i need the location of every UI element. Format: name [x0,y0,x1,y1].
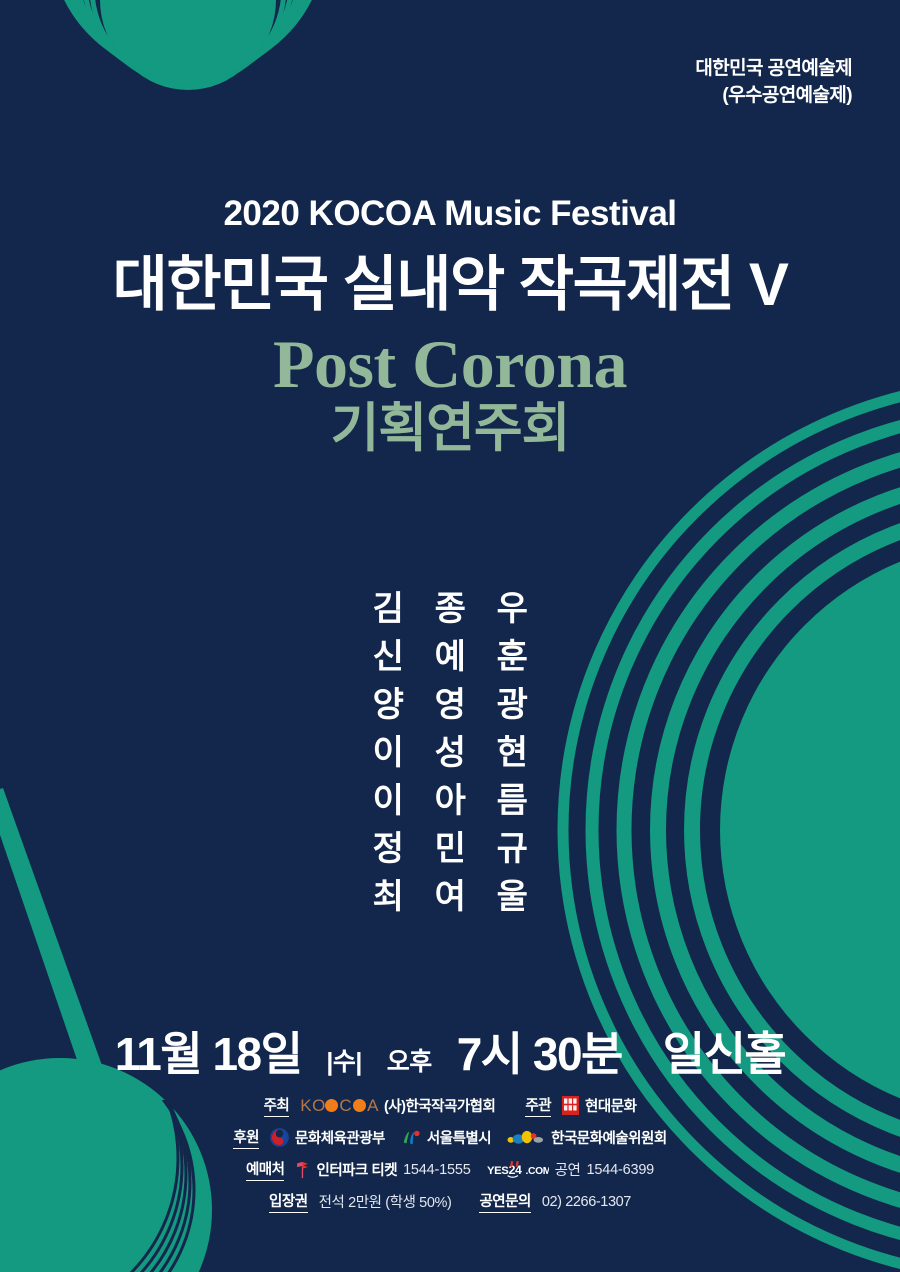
composer-surname: 신 [357,640,419,674]
composer-surname: 이 [357,784,419,818]
ticket-vendor-interpark[interactable]: 인터파크 티켓 1544-1555 [295,1159,470,1180]
seoul-logo-icon [401,1128,421,1148]
sponsor-label: 후원 [233,1126,259,1149]
composer-row: 김 종 우 [357,592,543,626]
schedule-ampm: 오후 [387,1048,432,1076]
composer-row: 양 영 광 [357,688,543,722]
schedule-venue: 일신홀 [663,1028,785,1080]
festival-eyebrow: 2020 KOCOA Music Festival [0,196,900,231]
svg-text:YES: YES [487,1165,509,1177]
credit-row-admission: 입장권 전석 2만원 (학생 50%) 공연문의 02) 2266-1307 [269,1190,631,1213]
credit-row-ticketing: 예매처 인터파크 티켓 1544-1555 YES 2 [246,1158,654,1181]
kocoa-dot-icon [325,1099,338,1112]
top-left-disc [100,0,276,88]
composer-surname: 정 [357,832,419,866]
taegeuk-icon [270,1128,289,1147]
subtitle-latin: Post Corona [0,330,900,399]
composer-mid: 아 [419,784,481,818]
page-title: 대한민국 실내악 작곡제전 V [0,253,900,316]
sponsor-entry-arko: 한국문화예술위원회 [507,1127,667,1148]
organizer-label: 주관 [525,1094,551,1117]
hyundai-culture-seal-icon [562,1096,579,1115]
kocoa-dot-icon [353,1099,366,1112]
composer-last: 규 [481,832,543,866]
composer-row: 정 민 규 [357,832,543,866]
composer-surname: 이 [357,736,419,770]
composer-mid: 여 [419,880,481,914]
admission-price: 전석 2만원 (학생 50%) [319,1191,452,1212]
concert-poster: 대한민국 공연예술제 (우수공연예술제) 2020 KOCOA Music Fe… [0,0,900,1272]
composer-surname: 양 [357,688,419,722]
interpark-pin-icon [295,1161,310,1179]
composer-mid: 종 [419,592,481,626]
ticket-vendor-phone: 1544-6399 [587,1162,655,1178]
ticketing-label: 예매처 [246,1158,285,1181]
kocoa-logo: KOCA [300,1096,379,1116]
composer-last: 광 [481,688,543,722]
svg-text:.COM: .COM [525,1166,548,1177]
ticket-vendor-phone: 1544-1555 [403,1162,471,1178]
credit-row-host: 주최 KOCA (사)한국작곡가협회 주관 [264,1094,637,1117]
inquiry-label: 공연문의 [479,1190,530,1213]
sponsor-entry-seoul: 서울특별시 [401,1127,491,1148]
composer-surname: 김 [357,592,419,626]
sponsor-org-1: 서울특별시 [427,1127,491,1148]
schedule-weekday: |수| [326,1048,362,1076]
sponsor-org-0: 문화체육관광부 [295,1127,385,1148]
composer-mid: 예 [419,640,481,674]
festival-badge: 대한민국 공연예술제 (우수공연예술제) [695,56,852,110]
composer-row: 신 예 훈 [357,640,543,674]
composer-mid: 영 [419,688,481,722]
composer-list: 김 종 우 신 예 훈 양 영 광 이 성 현 이 아 름 정 민 규 [0,592,900,928]
composer-row: 이 아 름 [357,784,543,818]
ticket-vendor-yes24[interactable]: YES 24 .COM 공연 1544-6399 [487,1159,654,1180]
composer-last: 름 [481,784,543,818]
composer-last: 현 [481,736,543,770]
credit-row-sponsor: 후원 문화체육관광부 [233,1126,666,1149]
organizer-entry: 현대문화 [562,1095,636,1116]
yes24-logo-icon: YES 24 .COM [487,1161,549,1178]
ticket-vendor-suffix: 공연 [555,1159,581,1180]
festival-badge-line2: (우수공연예술제) [695,83,852,110]
host-entry: KOCA (사)한국작곡가협회 [300,1095,495,1116]
schedule-line: 11월 18일 |수| 오후 7시 30분 일신홀 [0,1018,900,1084]
composer-last: 울 [481,880,543,914]
festival-badge-line1: 대한민국 공연예술제 [695,56,852,83]
composer-mid: 민 [419,832,481,866]
composer-row: 최 여 울 [357,880,543,914]
sponsor-org-2: 한국문화예술위원회 [551,1127,667,1148]
composer-row: 이 성 현 [357,736,543,770]
schedule-time: 7시 30분 [457,1028,622,1080]
host-label: 주최 [264,1094,290,1117]
title-block: 2020 KOCOA Music Festival 대한민국 실내악 작곡제전 … [0,196,900,460]
organizer-org: 현대문화 [585,1095,636,1116]
ticket-vendor-name: 인터파크 티켓 [316,1159,397,1180]
composer-last: 훈 [481,640,543,674]
credits-block: 주최 KOCA (사)한국작곡가협회 주관 [0,1094,900,1213]
arko-logo-icon [507,1130,545,1146]
sponsor-entry-mcst: 문화체육관광부 [270,1127,385,1148]
schedule-date: 11월 18일 [115,1028,302,1080]
inquiry-phone: 02) 2266-1307 [542,1194,631,1210]
composer-mid: 성 [419,736,481,770]
host-org: (사)한국작곡가협회 [384,1095,495,1116]
composer-last: 우 [481,592,543,626]
subtitle-korean: 기획연주회 [0,399,900,460]
admission-label: 입장권 [269,1190,308,1213]
composer-surname: 최 [357,880,419,914]
